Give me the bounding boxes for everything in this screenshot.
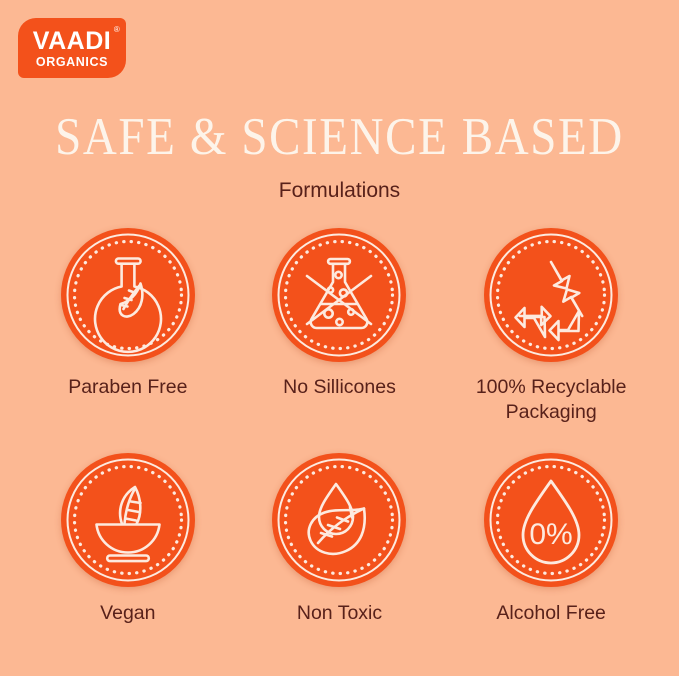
feature-badge-grid: Paraben Free <box>22 228 657 626</box>
registered-trademark-icon: ® <box>114 26 120 34</box>
feature-cell-vegan: Vegan <box>22 453 234 626</box>
brand-logo: VAADI® ORGANICS <box>18 18 126 78</box>
badge-label-recyclable-packaging: 100% Recyclable Packaging <box>456 375 646 425</box>
badge-no-sillicones <box>272 228 406 362</box>
flask-with-leaf-icon <box>61 228 195 362</box>
badge-label-non-toxic: Non Toxic <box>297 601 382 626</box>
badge-label-no-sillicones: No Sillicones <box>283 375 396 400</box>
droplet-with-leaf-icon <box>272 453 406 587</box>
page-title: SAFE & SCIENCE BASED <box>0 108 679 166</box>
badge-paraben-free <box>61 228 195 362</box>
badge-alcohol-free: 0% <box>484 453 618 587</box>
droplet-zero-percent-icon: 0% <box>484 453 618 587</box>
badge-vegan <box>61 453 195 587</box>
crossed-out-erlenmeyer-flask-icon <box>272 228 406 362</box>
droplet-percentage-text: 0% <box>529 518 572 551</box>
badge-label-paraben-free: Paraben Free <box>68 375 187 400</box>
feature-cell-alcohol-free: 0% Alcohol Free <box>445 453 657 626</box>
page-subtitle: Formulations <box>0 178 679 204</box>
badge-non-toxic <box>272 453 406 587</box>
bowl-with-leaf-icon <box>61 453 195 587</box>
feature-cell-non-toxic: Non Toxic <box>234 453 446 626</box>
feature-cell-no-sillicones: No Sillicones <box>234 228 446 425</box>
recycle-icon <box>484 228 618 362</box>
logo-brand-name: VAADI® <box>33 28 111 54</box>
logo-brand-subname: ORGANICS <box>36 55 108 70</box>
feature-cell-recyclable-packaging: 100% Recyclable Packaging <box>445 228 657 425</box>
badge-recyclable-packaging <box>484 228 618 362</box>
badge-label-alcohol-free: Alcohol Free <box>496 601 605 626</box>
logo-brand-name-text: VAADI <box>33 27 111 55</box>
logo-badge: VAADI® ORGANICS <box>18 18 126 78</box>
feature-cell-paraben-free: Paraben Free <box>22 228 234 425</box>
badge-label-vegan: Vegan <box>100 601 155 626</box>
